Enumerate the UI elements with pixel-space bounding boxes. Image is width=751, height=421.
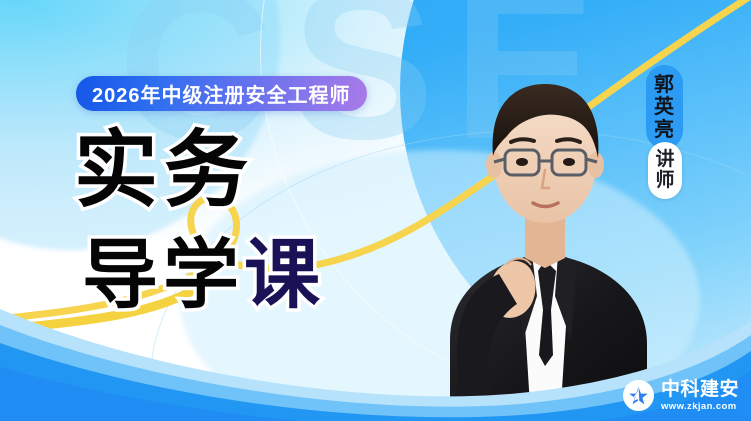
course-badge: 2026年中级注册安全工程师 bbox=[76, 76, 367, 111]
page-subtitle-plain: 导学 bbox=[82, 233, 244, 318]
instructor-role-char-2: 师 bbox=[648, 170, 682, 191]
instructor-name-char-1: 郭 bbox=[646, 74, 683, 96]
instructor-role-pill: 讲 师 bbox=[648, 142, 682, 199]
instructor-name-pill: 郭 英 亮 bbox=[646, 65, 683, 149]
page-subtitle-accent: 课 bbox=[244, 233, 325, 318]
instructor-role-char-1: 讲 bbox=[648, 149, 682, 170]
course-promo-poster: CSE bbox=[0, 0, 751, 421]
logo-brand-name: 中科建安 bbox=[661, 380, 739, 399]
instructor-name-char-3: 亮 bbox=[646, 119, 683, 141]
page-title: 实务 bbox=[74, 128, 254, 212]
brand-logo: 中科建安 www.zkjan.com bbox=[623, 380, 739, 412]
logo-url: www.zkjan.com bbox=[661, 402, 739, 412]
page-subtitle: 导学课 bbox=[82, 238, 325, 314]
zkjan-star-emblem-icon bbox=[623, 380, 654, 411]
logo-text-block: 中科建安 www.zkjan.com bbox=[661, 380, 739, 412]
instructor-name-char-2: 英 bbox=[646, 96, 683, 118]
